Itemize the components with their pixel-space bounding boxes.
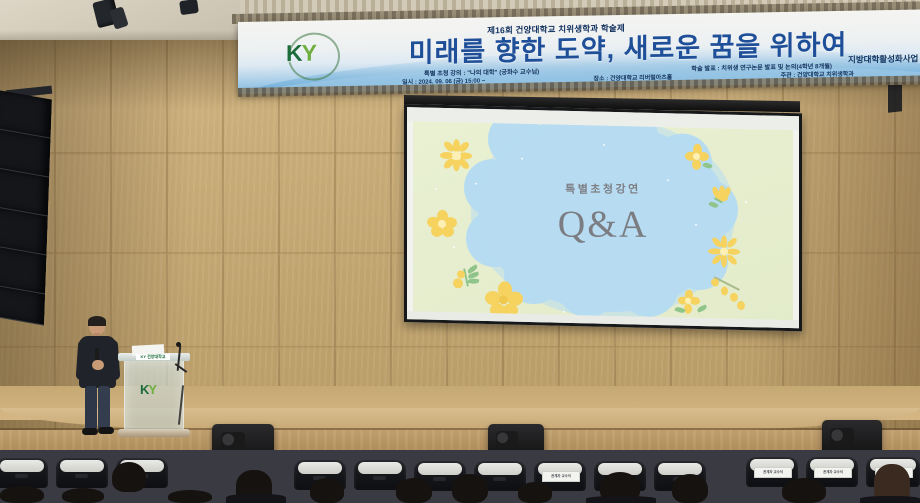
presentation-slide: 특별초청강연 Q&A	[413, 121, 793, 320]
flower-decoration	[685, 144, 709, 171]
flower-decoration	[441, 140, 471, 171]
reserved-seat-sign: 관계자 교수석	[754, 467, 791, 478]
audience-head	[782, 478, 826, 503]
university-logo: KY	[286, 32, 338, 79]
flower-decoration	[427, 210, 457, 239]
ceiling-spotlight-icon	[179, 0, 199, 15]
line-array-speaker-left	[0, 91, 52, 325]
audience-head	[452, 474, 488, 503]
audience-shoulders	[226, 494, 286, 503]
flower-decoration	[709, 236, 739, 267]
projection-screen: 특별초청강연 Q&A	[404, 104, 802, 331]
podium-logo: KY	[140, 383, 156, 396]
audience-head	[168, 490, 212, 503]
audience-head	[310, 478, 344, 503]
audience-head	[518, 482, 552, 503]
podium-microphone-icon	[176, 342, 181, 347]
audience-head	[112, 462, 146, 492]
auditorium-seat	[56, 458, 108, 488]
auditorium-photo: KY 제16회 건양대학교 치위생학과 학술제 미래를 향한 도약, 새로운 꿈…	[0, 0, 920, 503]
podium-name-plate: KY 건양대학교	[136, 354, 170, 360]
banner-program-label: 지방대학활성화사업	[848, 53, 918, 64]
audience-head	[0, 486, 44, 503]
flower-decoration	[675, 287, 711, 320]
logo-letter-k: K	[286, 40, 302, 66]
berry-branch-decoration	[711, 278, 749, 313]
reserved-seat-sign: 관계자 교수석	[814, 467, 851, 478]
leaf-sprig-decoration	[453, 264, 487, 291]
presenter-person	[76, 318, 120, 438]
audience-head	[62, 488, 104, 503]
audience-shoulders	[860, 496, 920, 503]
auditorium-seat	[0, 458, 48, 488]
reserved-seat-sign: 관계자 교수석	[542, 471, 579, 482]
audience-head	[396, 478, 432, 503]
slide-korean-title: 특별초청강연	[413, 184, 793, 197]
flower-decoration	[709, 186, 735, 213]
audience-head	[672, 474, 708, 503]
audience-shoulders	[586, 496, 656, 503]
logo-letter-y: Y	[302, 40, 316, 66]
lectern-podium: KY 건양대학교 KY	[118, 345, 190, 437]
